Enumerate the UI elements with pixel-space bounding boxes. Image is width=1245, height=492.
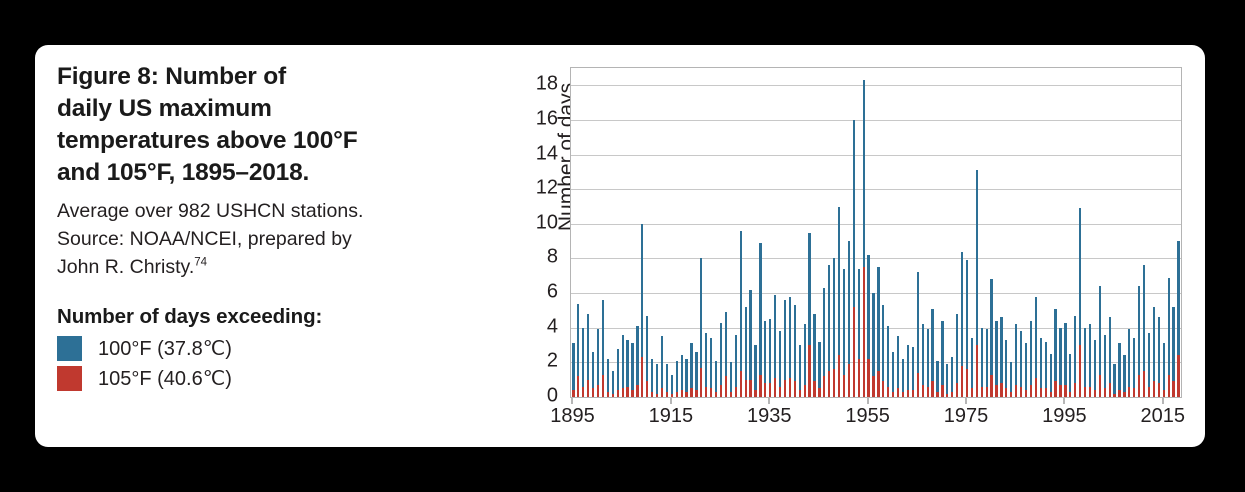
bar-105f: [799, 390, 801, 397]
bar-105f: [1089, 387, 1091, 397]
bar-105f: [1177, 355, 1179, 397]
bar-105f: [936, 392, 938, 397]
legend-swatch-100f: [57, 336, 82, 361]
figure-subtitle-line-2: Source: NOAA/NCEI, prepared by: [57, 226, 417, 254]
figure-title-line-2: daily US maximum: [57, 93, 417, 125]
bar-105f: [858, 359, 860, 397]
bar-105f: [1069, 392, 1071, 397]
bar-105f: [774, 378, 776, 397]
bar-105f: [745, 380, 747, 397]
bar-105f: [666, 392, 668, 397]
bar-105f: [912, 390, 914, 397]
bar-105f: [779, 387, 781, 397]
bar-100f: [946, 364, 948, 397]
bar-105f: [823, 376, 825, 397]
bar-100f: [1163, 343, 1165, 397]
bar-105f: [685, 392, 687, 397]
bar-105f: [1143, 371, 1145, 397]
bar-105f: [759, 375, 761, 398]
bar-105f: [1005, 388, 1007, 397]
bar-105f: [631, 390, 633, 397]
bar-105f: [838, 355, 840, 397]
bar-105f: [705, 387, 707, 397]
x-tick-mark: [966, 398, 967, 404]
bar-100f: [1123, 355, 1125, 397]
bar-105f: [804, 385, 806, 397]
bar-105f: [730, 392, 732, 397]
legend-label-105f: 105°F (40.6℃): [98, 366, 232, 391]
bar-105f: [764, 383, 766, 397]
bar-105f: [690, 388, 692, 397]
y-tick-label: 16: [516, 107, 558, 130]
bar-100f: [1050, 354, 1052, 397]
bar-105f: [725, 376, 727, 397]
bar-105f: [715, 392, 717, 397]
bar-105f: [882, 381, 884, 397]
chart: Number of days 024681012141618 189519151…: [490, 45, 1190, 447]
bar-105f: [607, 392, 609, 397]
bar-105f: [941, 385, 943, 397]
bar-105f: [671, 394, 673, 397]
bar-105f: [1084, 387, 1086, 397]
bar-100f: [1113, 364, 1115, 397]
bar-105f: [592, 388, 594, 397]
bar-105f: [597, 385, 599, 397]
bar-105f: [1128, 387, 1130, 397]
figure-card: Figure 8: Number of daily US maximum tem…: [35, 45, 1205, 447]
legend-label-100f: 100°F (37.8℃): [98, 336, 232, 361]
bar-105f: [887, 387, 889, 397]
bar-105f: [863, 267, 865, 397]
bar-105f: [1168, 375, 1170, 398]
bar-105f: [1118, 390, 1120, 397]
bar-105f: [1123, 392, 1125, 397]
bar-105f: [769, 383, 771, 397]
bar-105f: [1094, 390, 1096, 397]
bar-105f: [818, 388, 820, 397]
bar-105f: [808, 345, 810, 397]
bar-105f: [848, 364, 850, 397]
x-tick-mark: [769, 398, 770, 404]
x-tick-mark: [867, 398, 868, 404]
bar-105f: [1035, 378, 1037, 397]
x-tick-label: 1955: [845, 405, 890, 428]
bar-105f: [695, 390, 697, 397]
bar-105f: [961, 366, 963, 397]
bar-105f: [1015, 385, 1017, 397]
bar-105f: [1025, 390, 1027, 397]
figure-title-line-4: and 105°F, 1895–2018.: [57, 157, 417, 189]
bar-105f: [902, 392, 904, 397]
y-tick-label: 6: [516, 281, 558, 304]
bar-105f: [828, 371, 830, 397]
bar-105f: [990, 375, 992, 398]
y-tick-label: 18: [516, 73, 558, 96]
bar-105f: [641, 357, 643, 397]
bar-105f: [986, 387, 988, 397]
y-tick-label: 8: [516, 246, 558, 269]
bar-105f: [1158, 383, 1160, 397]
bar-105f: [626, 387, 628, 397]
bar-100f: [1069, 354, 1071, 397]
legend-item-100f: 100°F (37.8℃): [57, 336, 417, 361]
bar-105f: [794, 381, 796, 397]
bar-105f: [1010, 392, 1012, 397]
bar-105f: [1109, 383, 1111, 397]
bar-105f: [907, 390, 909, 397]
bar-105f: [813, 381, 815, 397]
bar-105f: [646, 381, 648, 397]
x-axis-ticks: 1895191519351955197519952015: [570, 398, 1182, 438]
bar-105f: [927, 387, 929, 397]
screenshot-root: Figure 8: Number of daily US maximum tem…: [0, 0, 1245, 492]
bar-105f: [1059, 385, 1061, 397]
bar-105f: [651, 392, 653, 397]
bar-105f: [976, 345, 978, 397]
y-tick-label: 10: [516, 211, 558, 234]
bar-series-group: [571, 68, 1181, 397]
bar-105f: [981, 387, 983, 397]
bar-105f: [897, 388, 899, 397]
bar-100f: [572, 343, 574, 397]
bar-100f: [1094, 340, 1096, 397]
bar-105f: [892, 392, 894, 397]
y-tick-label: 14: [516, 142, 558, 165]
bar-105f: [931, 381, 933, 397]
bar-100f: [631, 343, 633, 397]
bar-105f: [1133, 388, 1135, 397]
x-tick-label: 1915: [649, 405, 694, 428]
bar-105f: [1030, 385, 1032, 397]
bar-105f: [922, 385, 924, 397]
bar-105f: [749, 380, 751, 397]
bar-105f: [577, 376, 579, 397]
bar-105f: [966, 369, 968, 397]
bar-105f: [1000, 383, 1002, 397]
bar-105f: [1045, 388, 1047, 397]
y-tick-label: 2: [516, 350, 558, 373]
bar-105f: [622, 388, 624, 397]
bar-105f: [1163, 390, 1165, 397]
bar-105f: [602, 375, 604, 398]
x-tick-label: 1935: [747, 405, 792, 428]
x-tick-mark: [1064, 398, 1065, 404]
x-tick-label: 1895: [550, 405, 595, 428]
bar-105f: [971, 388, 973, 397]
bar-100f: [656, 364, 658, 397]
bar-105f: [1099, 375, 1101, 398]
bar-105f: [587, 380, 589, 397]
bar-105f: [1138, 375, 1140, 398]
bar-105f: [1074, 383, 1076, 397]
bar-105f: [956, 383, 958, 397]
bar-105f: [872, 376, 874, 397]
x-tick-label: 1975: [944, 405, 989, 428]
bar-105f: [1050, 392, 1052, 397]
figure-title-line-1: Figure 8: Number of: [57, 61, 417, 93]
bar-105f: [917, 373, 919, 397]
bar-105f: [582, 387, 584, 397]
x-tick-mark: [572, 398, 573, 404]
legend-title: Number of days exceeding:: [57, 305, 417, 329]
figure-title-line-3: temperatures above 100°F: [57, 125, 417, 157]
bar-105f: [1054, 381, 1056, 397]
bar-105f: [572, 390, 574, 397]
bar-100f: [1025, 343, 1027, 397]
bar-105f: [1020, 387, 1022, 397]
bar-105f: [784, 380, 786, 397]
bar-105f: [1172, 381, 1174, 397]
bar-105f: [1079, 345, 1081, 397]
bar-105f: [754, 390, 756, 397]
bar-105f: [853, 307, 855, 397]
bar-105f: [1153, 381, 1155, 397]
figure-title: Figure 8: Number of daily US maximum tem…: [57, 61, 417, 189]
bar-105f: [740, 371, 742, 397]
bar-105f: [877, 371, 879, 397]
bar-105f: [612, 394, 614, 397]
bar-105f: [1040, 388, 1042, 397]
x-tick-mark: [670, 398, 671, 404]
bar-105f: [867, 359, 869, 397]
bar-105f: [1064, 385, 1066, 397]
y-axis-ticks: 024681012141618: [516, 45, 558, 447]
figure-source-author: John R. Christy.: [57, 256, 194, 278]
bar-105f: [789, 378, 791, 397]
figure-subtitle-line-3: John R. Christy.74: [57, 254, 417, 282]
y-tick-label: 12: [516, 177, 558, 200]
x-tick-label: 1995: [1042, 405, 1087, 428]
bar-105f: [681, 390, 683, 397]
legend-item-105f: 105°F (40.6℃): [57, 366, 417, 391]
x-tick-mark: [1162, 398, 1163, 404]
bar-105f: [735, 387, 737, 397]
bar-105f: [951, 392, 953, 397]
bar-105f: [710, 388, 712, 397]
bar-105f: [720, 385, 722, 397]
bar-105f: [1113, 394, 1115, 397]
bar-105f: [833, 369, 835, 397]
figure-text-column: Figure 8: Number of daily US maximum tem…: [57, 61, 417, 391]
bar-105f: [1148, 387, 1150, 397]
plot-area: [570, 67, 1182, 398]
figure-footnote-marker: 74: [194, 256, 207, 268]
bar-105f: [636, 385, 638, 397]
bar-100f: [1118, 343, 1120, 397]
bar-105f: [617, 390, 619, 397]
figure-subtitle: Average over 982 USHCN stations. Source:…: [57, 198, 417, 281]
bar-105f: [995, 385, 997, 397]
bar-105f: [946, 394, 948, 397]
legend-swatch-105f: [57, 366, 82, 391]
bar-100f: [892, 352, 894, 397]
bar-105f: [676, 392, 678, 397]
x-tick-label: 2015: [1141, 405, 1186, 428]
figure-subtitle-line-1: Average over 982 USHCN stations.: [57, 198, 417, 226]
bar-105f: [700, 368, 702, 397]
bar-105f: [661, 388, 663, 397]
bar-105f: [1104, 388, 1106, 397]
y-tick-label: 4: [516, 315, 558, 338]
bar-105f: [656, 394, 658, 397]
bar-105f: [843, 375, 845, 398]
